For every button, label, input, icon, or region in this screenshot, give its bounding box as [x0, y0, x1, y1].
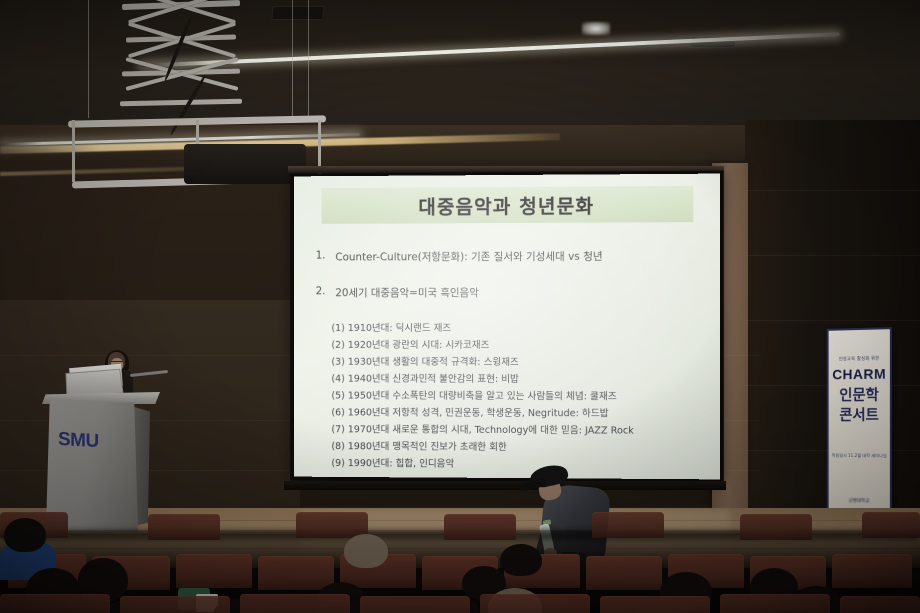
- seat: [120, 596, 230, 613]
- projector-device: [184, 144, 306, 184]
- audience-head: [344, 534, 388, 568]
- banner-title-line-2: 콘서트: [829, 404, 890, 425]
- seat: [148, 514, 220, 540]
- item-text: Counter-Culture(저항문화): 기존 질서와 기성세대 vs 청년: [335, 249, 602, 265]
- wall-seam: [745, 255, 920, 256]
- banner-brand: CHARM: [829, 365, 890, 382]
- seat: [0, 594, 110, 613]
- seat: [586, 556, 662, 590]
- slide-numbered-item: 2. 20세기 대중음악=미국 흑인음악: [316, 285, 479, 300]
- seat: [480, 594, 590, 613]
- slide-sub-item: (4) 1940년대 신경과민적 불안감의 표현: 비밥: [331, 371, 518, 385]
- projector-cage-post: [72, 120, 75, 182]
- wall-panel-left: [0, 300, 300, 520]
- slide-sub-item: (1) 1910년대: 딕시랜드 재즈: [331, 320, 451, 334]
- wall-seam: [745, 190, 920, 191]
- rig-hanger-wire: [88, 0, 89, 118]
- audience-head: [500, 544, 542, 576]
- audience-area: [0, 530, 920, 613]
- banner-title-line-1: 인문학: [829, 384, 890, 406]
- seat: [296, 512, 368, 538]
- slide-sub-item: (8) 1980년대 맹목적인 진보가 초래한 회한: [331, 438, 506, 453]
- seat: [600, 596, 710, 613]
- scissor-lift-plate: [120, 99, 242, 107]
- slide-sub-item: (6) 1960년대 저항적 성격, 민권운동, 학생운동, Negritude…: [331, 404, 608, 419]
- item-number: 1.: [316, 250, 336, 265]
- seat: [832, 554, 912, 588]
- slide-numbered-item: 1. Counter-Culture(저항문화): 기존 질서와 기성세대 vs…: [316, 249, 603, 265]
- seat: [240, 594, 350, 613]
- rig-hanger-wire: [308, 0, 309, 118]
- projector-lift-rig: [60, 0, 330, 185]
- lecture-hall-photo: 대중음악과 청년문화 1. Counter-Culture(저항문화): 기존 …: [0, 0, 920, 613]
- seat: [360, 596, 470, 613]
- seat: [720, 594, 830, 613]
- rig-hanger-wire: [292, 0, 293, 118]
- slide-sub-item: (7) 1970년대 새로운 통합의 시대, Technology에 대한 믿음…: [331, 421, 633, 436]
- roll-up-banner: 인성교육 활성화 위한 CHARM 인문학 콘서트 적용일시 11.2월 대학 …: [827, 327, 892, 529]
- banner-subtext: 적용일시 11.2월 대학 세미나실: [829, 452, 890, 460]
- seat: [840, 596, 920, 613]
- projected-slide: 대중음악과 청년문화 1. Counter-Culture(저항문화): 기존 …: [294, 174, 720, 480]
- item-text: 20세기 대중음악=미국 흑인음악: [335, 285, 478, 300]
- slide-sub-item: (9) 1990년대: 힙합, 인디음악: [331, 455, 454, 470]
- slide-sub-item: (3) 1930년대 생활의 대중적 규격화: 스윙재즈: [331, 354, 518, 368]
- slide-sub-item: (5) 1950년대 수소폭탄의 대량비축을 알고 있는 사람들의 체념: 쿨재…: [331, 388, 616, 403]
- wall-seam: [745, 320, 920, 321]
- item-number: 2.: [316, 285, 336, 300]
- ceiling-light-hotspot: [582, 22, 610, 35]
- banner-footer-logo: 상명대학교: [849, 498, 870, 504]
- podium-logo: SMU: [58, 429, 99, 453]
- audience-head: [4, 518, 46, 552]
- seat: [176, 554, 252, 588]
- seat: [444, 514, 516, 540]
- slide-body: 1. Counter-Culture(저항문화): 기존 질서와 기성세대 vs…: [294, 174, 720, 480]
- seat: [862, 512, 920, 538]
- seat: [592, 512, 664, 538]
- slide-sub-item: (2) 1920년대 광란의 시대: 시카코재즈: [331, 337, 489, 351]
- seat: [740, 514, 812, 540]
- seat: [258, 556, 334, 590]
- banner-tagline: 인성교육 활성화 위한: [829, 355, 890, 362]
- screen-bottom-casing: [284, 481, 726, 490]
